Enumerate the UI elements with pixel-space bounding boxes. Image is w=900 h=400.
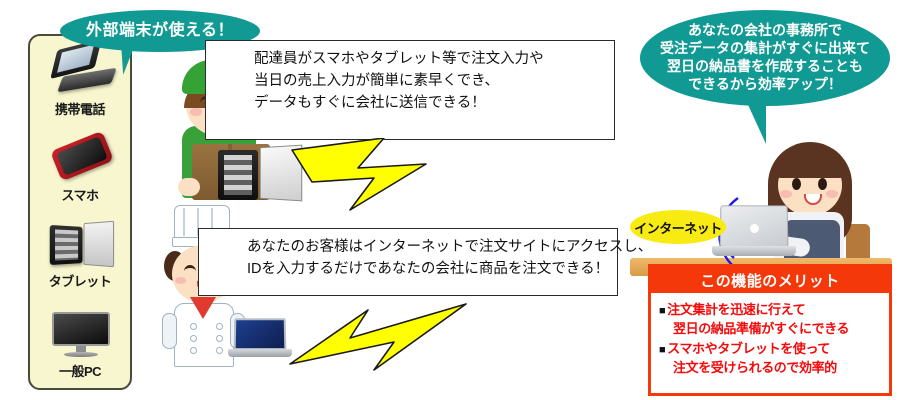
bullet-square-icon: ■ [659, 344, 665, 356]
callout-office-line: あなたの会社の事務所で [660, 22, 870, 40]
device-item-tablet: タブレット [30, 214, 130, 290]
device-item-smartphone: スマホ [30, 128, 130, 204]
device-label: 一般PC [30, 361, 130, 380]
chef-laptop-device [228, 318, 292, 362]
device-label: タブレット [30, 271, 130, 290]
bullet-square-icon: ■ [659, 305, 665, 317]
speech-line: あなたのお客様はインターネットで注文サイトにアクセスし、 [247, 237, 607, 259]
merit-item-line2: 注文を受けられるので効率的 [659, 359, 883, 377]
speech-bubble-customer: あなたのお客様はインターネットで注文サイトにアクセスし、 IDを入力するだけであ… [198, 228, 618, 296]
callout-office-line: 翌日の納品書を作成することも [660, 58, 870, 76]
desktop-pc-icon [36, 304, 124, 360]
merit-item-line1: 注文集計を迅速に行えて [667, 302, 805, 317]
merit-item-line1: スマホやタブレットを使って [667, 341, 830, 356]
device-panel: 携帯電話 スマホ タブレット 一般PC [28, 34, 132, 390]
speech-bubble-delivery: 配達員がスマホやタブレット等で注文入力や 当日の売上入力が簡単に素早くでき、 デ… [205, 40, 615, 140]
lightning-bolt-icon [288, 138, 428, 212]
callout-external-text: 外部端末が使える！ [76, 21, 244, 41]
speech-line: 配達員がスマホやタブレット等で注文入力や [254, 49, 604, 71]
device-item-desktop-pc: 一般PC [30, 304, 130, 380]
device-item-feature-phone: 携帯電話 [30, 42, 130, 118]
internet-label-text: インターネット [634, 218, 722, 237]
speech-line: データもすぐに会社に送信できる！ [254, 93, 604, 115]
device-label: スマホ [30, 185, 130, 204]
office-laptop-device [712, 205, 796, 261]
speech-line: IDを入力するだけであなたの会社に商品を注文できる！ [247, 259, 607, 281]
smartphone-icon [36, 128, 124, 184]
device-label: 携帯電話 [30, 99, 130, 118]
internet-label: インターネット [630, 210, 726, 244]
merit-list-item: ■スマホやタブレットを使って 注文を受けられるので効率的 [659, 340, 883, 377]
merit-title: この機能のメリット [651, 267, 889, 293]
tablet-icon [36, 214, 124, 270]
diagram-canvas: 携帯電話 スマホ タブレット 一般PC 外部端末が使える！ [0, 0, 900, 400]
merit-list: ■注文集計を迅速に行えて 翌日の納品準備がすぐにできる ■スマホやタブレットを使… [651, 293, 889, 377]
speech-line: 当日の売上入力が簡単に素早くでき、 [254, 71, 604, 93]
merit-box: この機能のメリット ■注文集計を迅速に行えて 翌日の納品準備がすぐにできる ■ス… [648, 264, 892, 396]
merit-item-line2: 翌日の納品準備がすぐにできる [659, 320, 883, 338]
callout-office-line: できるから効率アップ！ [660, 76, 870, 94]
callout-office-benefit: あなたの会社の事務所で 受注データの集計がすぐに出来て 翌日の納品書を作成するこ… [640, 10, 890, 106]
lightning-bolt-icon [288, 300, 468, 372]
callout-office-line: 受注データの集計がすぐに出来て [660, 40, 870, 58]
merit-list-item: ■注文集計を迅速に行えて 翌日の納品準備がすぐにできる [659, 301, 883, 338]
feature-phone-icon [36, 42, 124, 98]
